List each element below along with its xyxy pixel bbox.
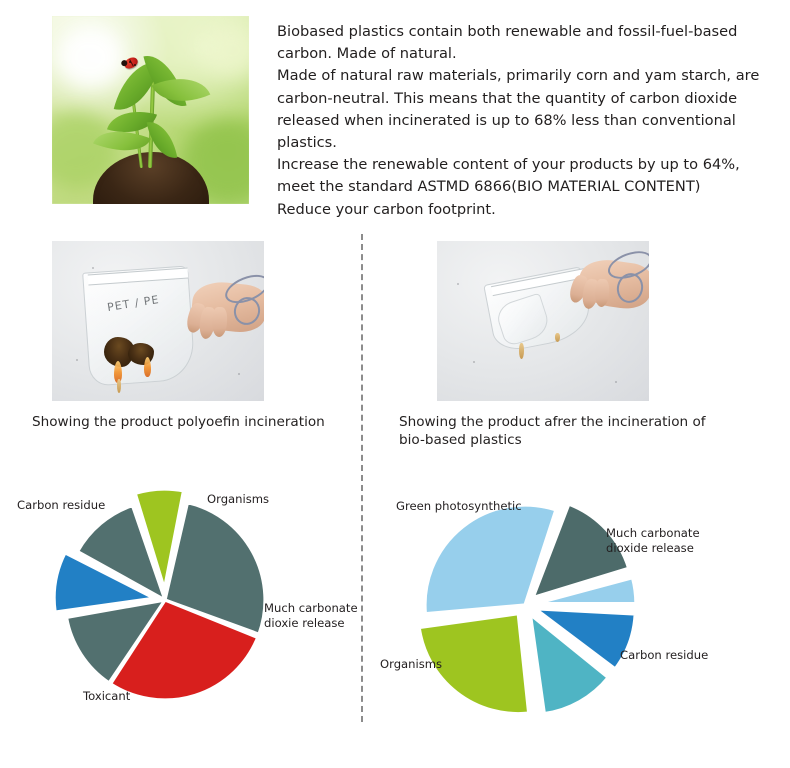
pie-slice-label: Much carbonatedioxie release [264, 601, 358, 630]
molten-drip-right-1 [519, 343, 524, 359]
flame-left-2 [144, 357, 151, 377]
hero-bokeh-4 [58, 28, 122, 86]
molten-drip-right-2 [555, 333, 560, 342]
caption-left-photo: Showing the product polyoefin incinerati… [32, 413, 352, 431]
wall-speck [238, 373, 240, 375]
pie-slice-label: Green photosynthetic [396, 499, 522, 513]
wall-speck [615, 381, 617, 383]
pie-chart-polyolefin: Much carbonatedioxie releaseToxicantCarb… [0, 470, 362, 720]
caption-right-photo: Showing the product afrer the incinerati… [399, 413, 719, 449]
intro-section: Biobased plastics contain both renewable… [0, 0, 790, 215]
photo-polyolefin-incineration: PET / PE [52, 241, 264, 401]
pie-slice-label: Organisms [207, 492, 269, 506]
intro-paragraph: Biobased plastics contain both renewable… [277, 21, 777, 221]
molten-drip-left [117, 379, 121, 393]
pie-slice-label: Carbon residue [620, 648, 708, 662]
pie-slice-label: Organisms [380, 657, 442, 671]
wall-speck [473, 361, 475, 363]
wall-speck [76, 359, 78, 361]
pie-chart-biobased-svg: Green photosyntheticMuch carbonatedioxid… [372, 470, 790, 720]
wall-speck [457, 283, 459, 285]
hero-seedling-photo [52, 16, 249, 204]
pie-slice-label: Carbon residue [17, 498, 105, 512]
wall-speck [92, 267, 94, 269]
pie-slice-label: Much carbonatedioxide release [606, 526, 700, 555]
pie-slice-label: Toxicant [82, 689, 131, 703]
photo-biobased-incineration [437, 241, 649, 401]
pie-chart-biobased: Green photosyntheticMuch carbonatedioxid… [372, 470, 790, 720]
pie-chart-polyolefin-svg: Much carbonatedioxie releaseToxicantCarb… [0, 470, 362, 720]
